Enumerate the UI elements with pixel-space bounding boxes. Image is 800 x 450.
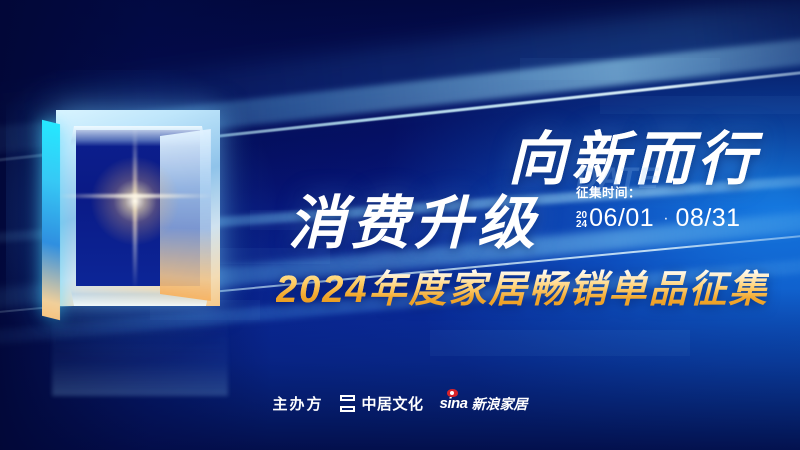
logo-zhongju[interactable]: 中居文化 (339, 393, 423, 414)
portal-floor-reflection (52, 310, 228, 396)
sina-wordmark: sina (440, 396, 468, 411)
date-year-stack: 20 24 (576, 211, 587, 229)
zhongju-logo-text: 中居文化 (361, 393, 423, 414)
logo-sina[interactable]: sina 新浪家居 (440, 394, 528, 414)
sina-logo-cn-text: 新浪家居 (472, 394, 528, 414)
date-block: DATE 征集时间： 20 24 06/01 · 08/31 (576, 168, 776, 233)
zhongju-logo-icon (339, 395, 356, 412)
campaign-banner: 向新而行 消费升级 DATE 征集时间： 20 24 06/01 · 08/31… (0, 0, 800, 450)
sina-eye-icon (447, 389, 458, 397)
date-range-row: 20 24 06/01 · 08/31 (576, 204, 776, 233)
subheadline-year: 2024 (276, 269, 369, 311)
portal-star-flare (130, 196, 140, 206)
subheadline-rest: 年度家居畅销单品征集 (369, 269, 769, 311)
date-year-bottom: 24 (576, 220, 587, 229)
footer-organizers: 主办方 中居文化 sina 新浪家居 (0, 393, 800, 414)
headline-secondary: 消费升级 (288, 176, 540, 260)
date-start: 06/01 (589, 204, 654, 233)
date-label: 征集时间： (576, 182, 776, 201)
subheadline-gold: 2024年度家居畅销单品征集 (276, 258, 769, 313)
date-separator-icon: · (663, 210, 668, 228)
organizer-label: 主办方 (272, 393, 323, 414)
date-end: 08/31 (676, 204, 741, 233)
portal-door-graphic (42, 104, 238, 322)
portal-left-edge (42, 120, 60, 320)
